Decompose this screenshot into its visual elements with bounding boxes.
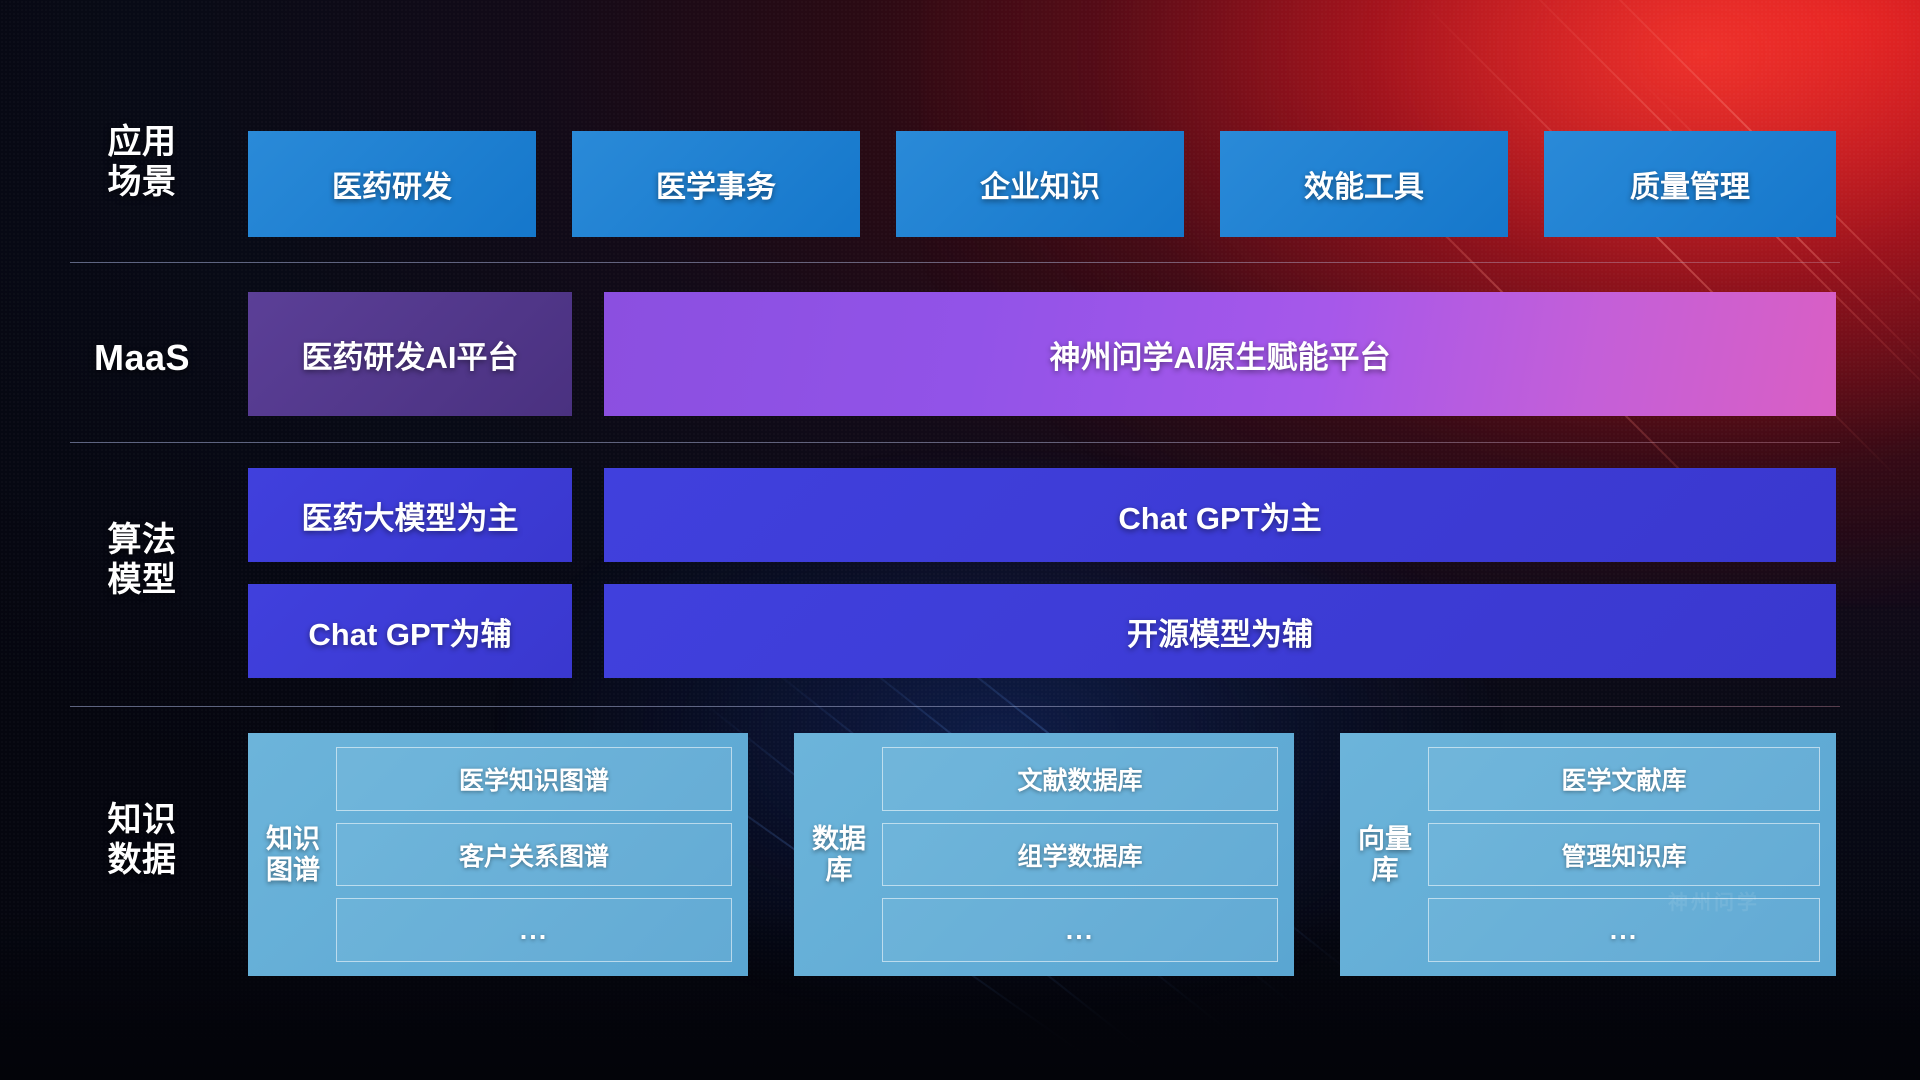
algo-box-medicine-llm-primary[interactable]: 医药大模型为主 [248,468,572,562]
algo-box-chatgpt-secondary[interactable]: Chat GPT为辅 [248,584,572,678]
algo-box-opensource-secondary[interactable]: 开源模型为辅 [604,584,1836,678]
knowledge-panel-vector[interactable]: 向量库 医学文献库 管理知识库 ... [1340,733,1836,976]
app-box-medicine-rd[interactable]: 医药研发 [248,131,536,237]
knowledge-item-customer-graph[interactable]: 客户关系图谱 [336,823,732,887]
divider-application-maas [70,262,1840,263]
algo-box-chatgpt-primary[interactable]: Chat GPT为主 [604,468,1836,562]
tier-label-knowledge-line1: 知识 [62,800,222,840]
knowledge-item-omics-db[interactable]: 组学数据库 [882,823,1278,887]
knowledge-panel-graph-items: 医学知识图谱 客户关系图谱 ... [336,747,732,962]
knowledge-panel-graph-label: 知识图谱 [264,747,322,962]
watermark: 神州问学 [1668,886,1760,915]
knowledge-item-medical-literature[interactable]: 医学文献库 [1428,747,1820,811]
app-box-quality-management[interactable]: 质量管理 [1544,131,1836,237]
maas-box-shenzhou-wenxue-platform[interactable]: 神州问学AI原生赋能平台 [604,292,1836,416]
knowledge-panel-database-label: 数据库 [810,747,868,962]
tier-label-algorithm-line1: 算法 [62,520,222,560]
tier-label-knowledge: 知识 数据 [62,800,222,880]
app-box-efficiency-tools[interactable]: 效能工具 [1220,131,1508,237]
knowledge-item-graph-more[interactable]: ... [336,898,732,962]
tier-label-application-line1: 应用 [62,122,222,162]
divider-maas-algorithm [70,442,1840,443]
tier-label-algorithm: 算法 模型 [62,520,222,600]
architecture-diagram: 应用 场景 医药研发 医学事务 企业知识 效能工具 质量管理 MaaS 医药研发… [0,0,1920,1080]
app-box-medical-affairs[interactable]: 医学事务 [572,131,860,237]
knowledge-item-management-knowledge[interactable]: 管理知识库 [1428,823,1820,887]
knowledge-item-vector-more[interactable]: ... [1428,898,1820,962]
knowledge-item-database-more[interactable]: ... [882,898,1278,962]
knowledge-panel-database-items: 文献数据库 组学数据库 ... [882,747,1278,962]
knowledge-panel-vector-label: 向量库 [1356,747,1414,962]
knowledge-panel-database[interactable]: 数据库 文献数据库 组学数据库 ... [794,733,1294,976]
knowledge-panel-vector-items: 医学文献库 管理知识库 ... [1428,747,1820,962]
knowledge-panel-graph[interactable]: 知识图谱 医学知识图谱 客户关系图谱 ... [248,733,748,976]
maas-box-medicine-ai-platform[interactable]: 医药研发AI平台 [248,292,572,416]
tier-label-application: 应用 场景 [62,122,222,202]
divider-algorithm-knowledge [70,706,1840,707]
tier-label-algorithm-line2: 模型 [62,560,222,600]
app-box-enterprise-knowledge[interactable]: 企业知识 [896,131,1184,237]
knowledge-item-literature-db[interactable]: 文献数据库 [882,747,1278,811]
tier-label-maas: MaaS [62,337,222,379]
knowledge-item-medical-graph[interactable]: 医学知识图谱 [336,747,732,811]
tier-label-knowledge-line2: 数据 [62,840,222,880]
tier-label-application-line2: 场景 [62,162,222,202]
